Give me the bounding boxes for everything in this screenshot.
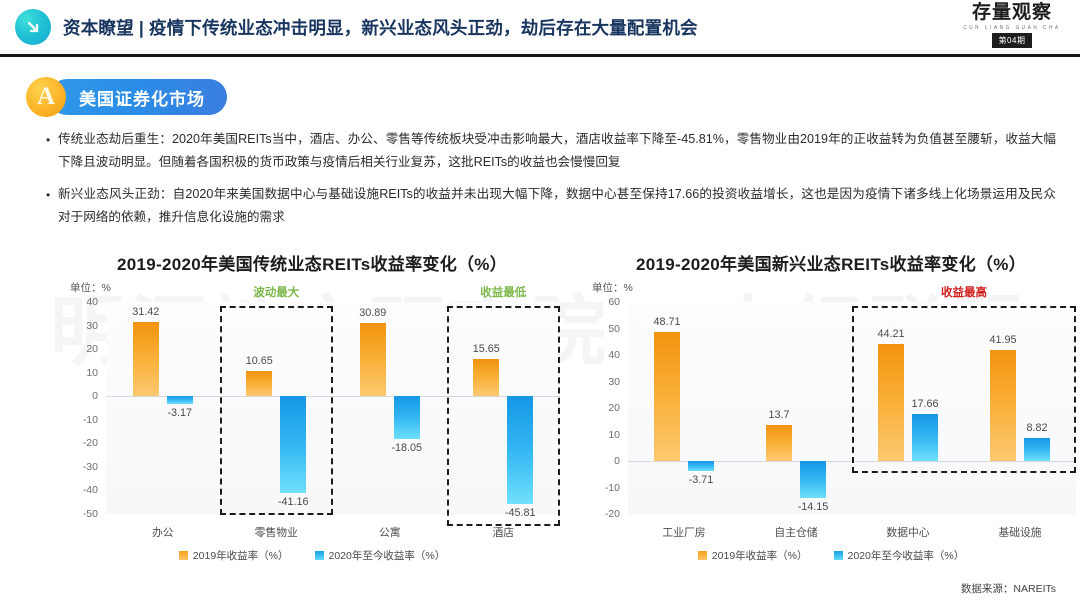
legend-label: 2019年收益率（%） [193, 548, 289, 563]
bar [912, 414, 938, 461]
y-axis-tick: 10 [608, 429, 620, 441]
chart-unit-label: 单位：% [592, 280, 633, 295]
bar-groups: 31.42-3.17办公10.65-41.16零售物业30.89-18.05公寓… [106, 302, 560, 514]
bar [878, 344, 904, 461]
bar-value-label: -41.16 [278, 496, 309, 508]
chart-plot-area: 403020100-10-20-30-40-50 31.42-3.17办公10.… [62, 302, 562, 514]
legend-label: 2020年至今收益率（%） [848, 548, 965, 563]
bar [473, 359, 499, 396]
arrow-down-right-icon [15, 9, 51, 45]
legend-item: 2019年收益率（%） [698, 548, 808, 563]
legend-swatch-2019 [179, 551, 188, 560]
bar-group: 15.65-45.81酒店 [447, 302, 561, 514]
bar [654, 332, 680, 461]
list-item: • 传统业态劫后重生：2020年美国REITs当中，酒店、办公、零售等传统板块受… [46, 128, 1056, 175]
x-axis-category-label: 零售物业 [220, 524, 334, 540]
bar-value-label: 15.65 [473, 343, 500, 355]
bar-value-label: -18.05 [391, 442, 422, 454]
bar [990, 350, 1016, 461]
x-axis-category-label: 酒店 [447, 524, 561, 540]
y-axis-tick: 40 [608, 349, 620, 361]
logo-pinyin: CUN LIANG GUAN CHA [956, 25, 1068, 31]
plot-panel: 48.71-3.71工业厂房13.7-14.15自主仓储44.2117.66数据… [628, 302, 1076, 514]
x-axis-category-label: 自主仓储 [740, 524, 852, 540]
logo-name: 存量观察 [956, 3, 1068, 23]
legend-item: 2019年收益率（%） [179, 548, 289, 563]
bullet-list: • 传统业态劫后重生：2020年美国REITs当中，酒店、办公、零售等传统板块受… [46, 128, 1056, 237]
bar-value-label: 10.65 [246, 355, 273, 367]
bar-value-label: -45.81 [505, 507, 536, 519]
x-axis-category-label: 工业厂房 [628, 524, 740, 540]
highlight-label: 收益最低 [480, 284, 526, 300]
chart-unit-label: 单位：% [70, 280, 111, 295]
bar [360, 323, 386, 396]
bar [280, 396, 306, 493]
y-axis-tick: -40 [83, 484, 98, 496]
y-axis-tick: -30 [83, 461, 98, 473]
plot-panel: 31.42-3.17办公10.65-41.16零售物业30.89-18.05公寓… [106, 302, 560, 514]
brand-logo: 存量观察 CUN LIANG GUAN CHA 第04期 [956, 3, 1068, 48]
logo-issue-badge: 第04期 [992, 33, 1033, 49]
chart-legend: 2019年收益率（%） 2020年至今收益率（%） [62, 548, 562, 563]
chart-title: 2019-2020年美国传统业态REITs收益率变化（%） [62, 250, 562, 275]
y-axis-tick: 20 [608, 402, 620, 414]
bar-value-label: 17.66 [911, 398, 938, 410]
y-axis-tick: -20 [605, 508, 620, 520]
bar-group: 10.65-41.16零售物业 [220, 302, 334, 514]
legend-label: 2020年至今收益率（%） [329, 548, 446, 563]
bar [1024, 438, 1050, 461]
bar [133, 322, 159, 396]
bar-group: 30.89-18.05公寓 [333, 302, 447, 514]
bullet-marker: • [46, 183, 58, 230]
legend-swatch-2020 [834, 551, 843, 560]
legend-item: 2020年至今收益率（%） [315, 548, 446, 563]
y-axis: 6050403020100-10-20 [584, 302, 626, 514]
bar [394, 396, 420, 439]
y-axis-tick: 20 [86, 343, 98, 355]
bar [246, 371, 272, 396]
bar-group: 31.42-3.17办公 [106, 302, 220, 514]
x-axis-category-label: 基础设施 [964, 524, 1076, 540]
bar-value-label: 44.21 [877, 328, 904, 340]
chart-plot-area: 6050403020100-10-20 48.71-3.71工业厂房13.7-1… [584, 302, 1078, 514]
bar-value-label: 8.82 [1026, 422, 1047, 434]
y-axis-tick: 60 [608, 296, 620, 308]
chart-legend: 2019年收益率（%） 2020年至今收益率（%） [584, 548, 1078, 563]
x-axis-category-label: 公寓 [333, 524, 447, 540]
bar-groups: 48.71-3.71工业厂房13.7-14.15自主仓储44.2117.66数据… [628, 302, 1076, 514]
legend-swatch-2020 [315, 551, 324, 560]
chart-title: 2019-2020年美国新兴业态REITs收益率变化（%） [584, 250, 1078, 275]
y-axis-tick: 50 [608, 323, 620, 335]
y-axis-tick: -50 [83, 508, 98, 520]
bar-value-label: 30.89 [359, 307, 386, 319]
y-axis-tick: -10 [605, 482, 620, 494]
legend-swatch-2019 [698, 551, 707, 560]
page-title: 资本瞭望 | 疫情下传统业态冲击明显，新兴业态风头正劲，劫后存在大量配置机会 [63, 15, 698, 40]
bullet-text: 新兴业态风头正劲：自2020年来美国数据中心与基础设施REITs的收益并未出现大… [58, 183, 1056, 230]
bar [800, 461, 826, 498]
chart-traditional-reits: 2019-2020年美国传统业态REITs收益率变化（%） 单位：% 40302… [62, 250, 562, 580]
x-axis-category-label: 数据中心 [852, 524, 964, 540]
bar-value-label: -14.15 [798, 501, 829, 513]
section-marker: A [26, 77, 66, 117]
section-title: 美国证券化市场 [49, 79, 227, 115]
bar-group: 48.71-3.71工业厂房 [628, 302, 740, 514]
bar [688, 461, 714, 471]
y-axis-tick: 30 [608, 376, 620, 388]
y-axis-tick: -20 [83, 437, 98, 449]
y-axis-tick: 0 [92, 390, 98, 402]
y-axis: 403020100-10-20-30-40-50 [62, 302, 104, 514]
page-header: 资本瞭望 | 疫情下传统业态冲击明显，新兴业态风头正劲，劫后存在大量配置机会 存… [0, 0, 1080, 57]
highlight-label: 收益最高 [941, 284, 987, 300]
bar [167, 396, 193, 403]
slide-page: 明源地产研究院 中经联盟 资本瞭望 | 疫情下传统业态冲击明显，新兴业态风头正劲… [0, 0, 1080, 608]
bar-value-label: 48.71 [653, 316, 680, 328]
legend-item: 2020年至今收益率（%） [834, 548, 965, 563]
section-header: A 美国证券化市场 [26, 76, 227, 118]
bar-group: 13.7-14.15自主仓储 [740, 302, 852, 514]
bar-value-label: 13.7 [768, 409, 789, 421]
bar-value-label: 41.95 [989, 334, 1016, 346]
x-axis-category-label: 办公 [106, 524, 220, 540]
bar-group: 41.958.82基础设施 [964, 302, 1076, 514]
bar [766, 425, 792, 461]
y-axis-tick: 10 [86, 367, 98, 379]
y-axis-tick: 0 [614, 455, 620, 467]
bullet-text: 传统业态劫后重生：2020年美国REITs当中，酒店、办公、零售等传统板块受冲击… [58, 128, 1056, 175]
bar-group: 44.2117.66数据中心 [852, 302, 964, 514]
legend-label: 2019年收益率（%） [712, 548, 808, 563]
chart-emerging-reits: 2019-2020年美国新兴业态REITs收益率变化（%） 单位：% 60504… [584, 250, 1078, 580]
bar-value-label: 31.42 [132, 306, 159, 318]
source-note: 数据来源：NAREITs [961, 581, 1056, 596]
bar [507, 396, 533, 504]
bar-value-label: -3.17 [167, 407, 192, 419]
y-axis-tick: 40 [86, 296, 98, 308]
bar-value-label: -3.71 [689, 474, 714, 486]
y-axis-tick: -10 [83, 414, 98, 426]
y-axis-tick: 30 [86, 320, 98, 332]
list-item: • 新兴业态风头正劲：自2020年来美国数据中心与基础设施REITs的收益并未出… [46, 183, 1056, 230]
highlight-label: 波动最大 [253, 284, 299, 300]
bullet-marker: • [46, 128, 58, 175]
